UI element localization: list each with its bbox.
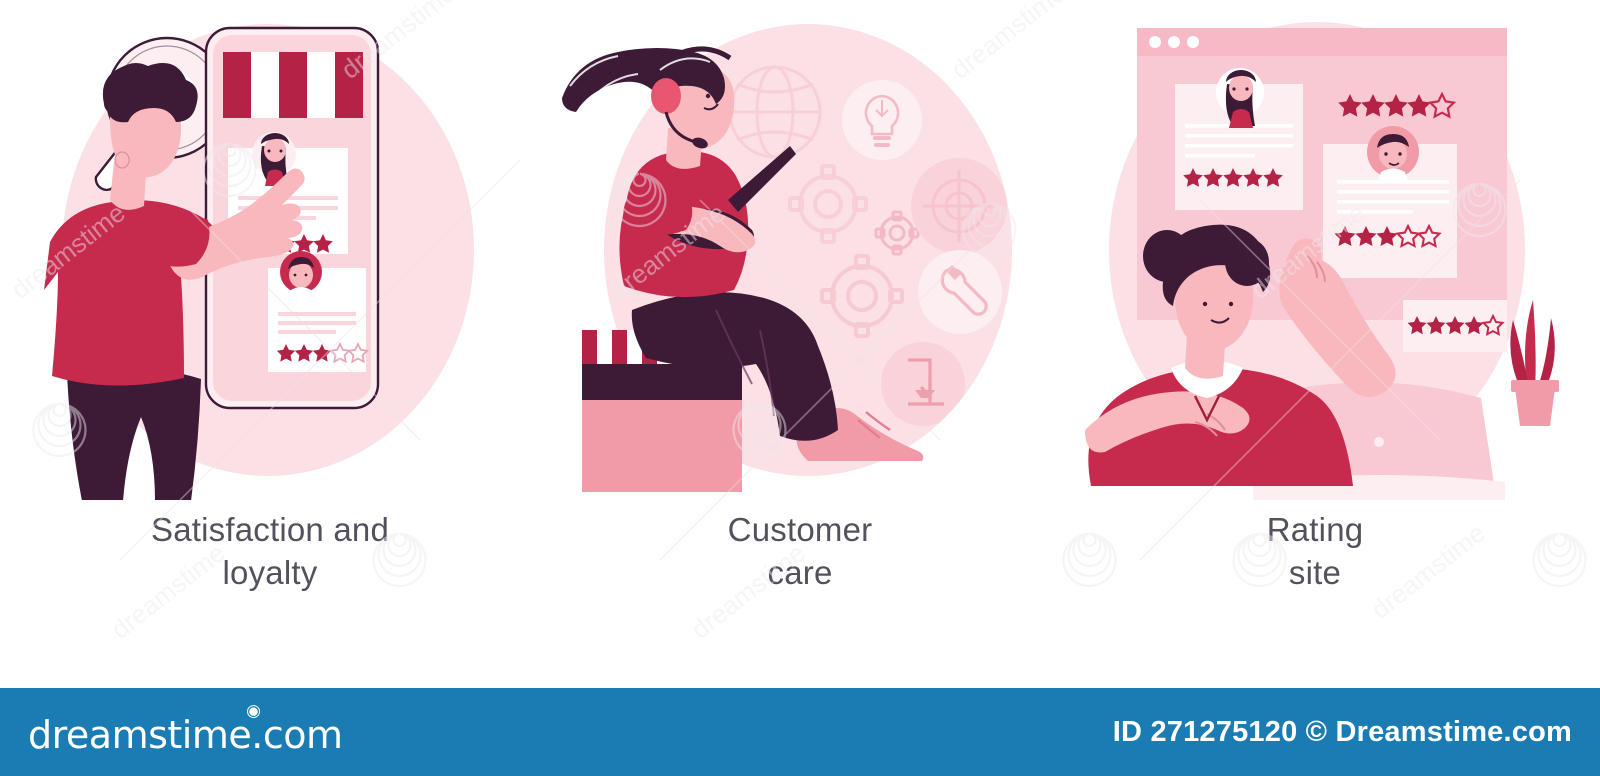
review-card-2 [268, 251, 367, 372]
agent-sleeve [623, 191, 692, 235]
man-ear [115, 152, 129, 168]
wrench-icon [918, 250, 1002, 334]
potted-plant-icon [1510, 300, 1559, 426]
illustration-stage: Satisfaction and loyalty [0, 0, 1600, 672]
panel-customer-care: Customer care [540, 0, 1060, 672]
woman-hair-bun-right [1225, 238, 1269, 286]
panel-caption: Rating site [1055, 508, 1575, 594]
man-sleeve [147, 215, 209, 266]
review-card-b [1323, 126, 1457, 278]
review-card-a [1175, 68, 1303, 210]
man-trousers [67, 367, 201, 500]
woman-hair-bun-left [1143, 230, 1191, 282]
browser-dot-1 [1149, 36, 1161, 48]
artwork-customer-care [540, 0, 1060, 500]
browser-dot-3 [1187, 36, 1199, 48]
image-id-text: ID 271275120 © Dreamstime.com [1113, 716, 1572, 749]
download-icon [881, 342, 965, 426]
dreamstime-logo[interactable]: ◉ dreamstime.com [28, 707, 342, 757]
panel-rating-site: Rating site [1055, 0, 1575, 672]
footer-bar: ◉ dreamstime.com ID 271275120 © Dreamsti… [0, 688, 1600, 776]
browser-dot-2 [1168, 36, 1180, 48]
target-icon [911, 158, 1007, 254]
artwork-rating-site [1055, 0, 1575, 500]
artwork-satisfaction-and-loyalty [10, 0, 530, 500]
lightbulb-icon [842, 80, 922, 160]
panel-caption: Customer care [540, 508, 1060, 594]
panel-satisfaction-and-loyalty: Satisfaction and loyalty [10, 0, 530, 672]
storefront-awning [223, 52, 363, 124]
floating-rating-card [1403, 300, 1507, 352]
panel-caption: Satisfaction and loyalty [10, 508, 530, 594]
dreamstime-logo-text: dreamstime.com [28, 713, 342, 757]
spiral-icon: ◉ [246, 701, 260, 721]
